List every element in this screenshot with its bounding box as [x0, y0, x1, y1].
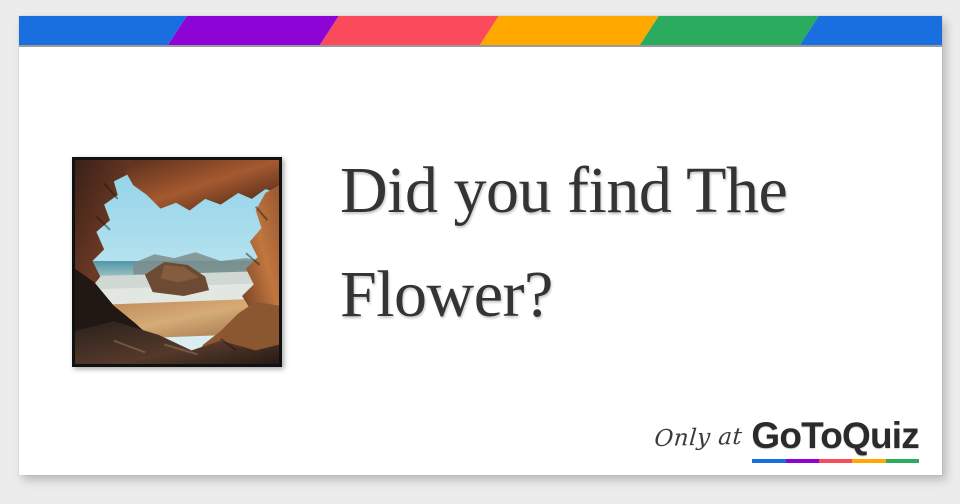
page-background: Did you find The Flower? Only at GoToQui… [0, 0, 960, 504]
gotoquiz-underline-bar [752, 459, 919, 463]
ribbon-divider-rule [19, 45, 942, 47]
gotoquiz-wordmark: GoToQuiz [751, 417, 919, 455]
share-card: Did you find The Flower? Only at GoToQui… [19, 16, 942, 475]
ribbon-segment-red [317, 16, 502, 45]
underline-seg-0 [752, 459, 785, 463]
underline-seg-3 [852, 459, 885, 463]
ribbon-segment-orange [477, 16, 662, 45]
underline-seg-4 [886, 459, 919, 463]
ribbon-segment-blue [19, 16, 189, 45]
quiz-thumbnail[interactable] [72, 157, 282, 367]
top-color-ribbon [19, 16, 942, 45]
only-at-label: Only at [652, 424, 743, 464]
ribbon-segment-blue-2 [797, 16, 942, 45]
ribbon-segment-green [637, 16, 822, 45]
underline-seg-2 [819, 459, 852, 463]
ribbon-segment-purple [165, 16, 342, 45]
gotoquiz-logo[interactable]: GoToQuiz [751, 417, 919, 463]
brand-footer[interactable]: Only at GoToQuiz [654, 417, 919, 463]
cave-seascape-photo [75, 160, 279, 364]
page-title: Did you find The Flower? [340, 139, 920, 347]
underline-seg-1 [786, 459, 819, 463]
